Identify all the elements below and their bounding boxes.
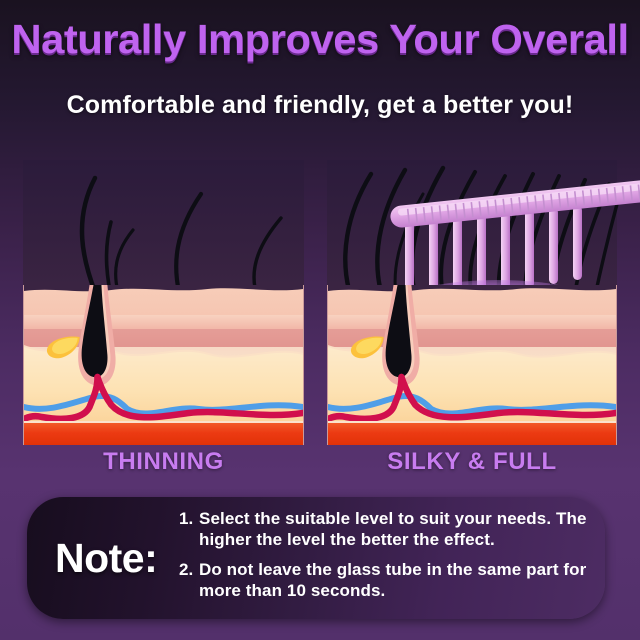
page-subtitle: Comfortable and friendly, get a better y… — [0, 90, 640, 120]
caption-silky-full: SILKY & FULL — [327, 448, 617, 476]
note-item-text: Do not leave the glass tube in the same … — [199, 559, 597, 601]
note-item-number: 2. — [179, 559, 199, 601]
caption-thinning: THINNING — [23, 448, 304, 476]
page-title: Naturally Improves Your Overall — [0, 16, 640, 62]
note-item-number: 1. — [179, 508, 199, 550]
skin-cross-section-left — [23, 285, 304, 445]
note-item-text: Select the suitable level to suit your n… — [199, 508, 597, 550]
poster-root: Naturally Improves Your Overall Comforta… — [0, 0, 640, 640]
skin-cross-section-right — [327, 285, 617, 445]
skin-diagram-silky-full — [327, 160, 617, 445]
note-item: 2. Do not leave the glass tube in the sa… — [179, 559, 597, 601]
muscle-layer — [24, 421, 303, 445]
muscle-layer — [328, 421, 616, 445]
note-list: 1. Select the suitable level to suit you… — [179, 508, 597, 610]
skin-diagram-thinning — [23, 160, 304, 445]
note-item: 1. Select the suitable level to suit you… — [179, 508, 597, 550]
note-box: Note: 1. Select the suitable level to su… — [27, 497, 605, 619]
